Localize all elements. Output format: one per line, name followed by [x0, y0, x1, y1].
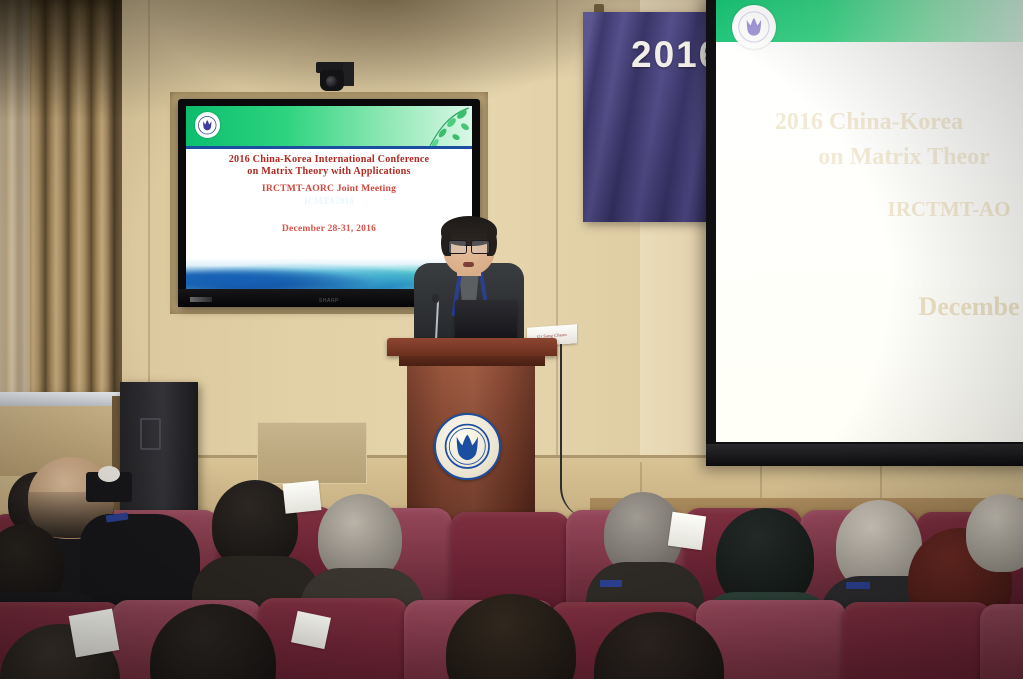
magnolia-u-icon — [738, 11, 770, 43]
slide-divider-rule — [186, 146, 472, 149]
program-booklet — [283, 480, 322, 514]
projected-line-4: Decembe — [906, 292, 1023, 322]
slide-line-1: 2016 China-Korea International Conferenc… — [186, 154, 472, 166]
display-brand-label: SHARP — [319, 298, 339, 304]
podium-neck — [399, 356, 545, 366]
audience-area — [0, 452, 1023, 679]
conference-photo-scene: 2016 China-Korea International Conferenc… — [0, 0, 1023, 679]
hanging-banner: 2016 — [583, 12, 707, 222]
lens-right — [471, 240, 490, 254]
projected-slide: 2016 China-Korea on Matrix Theor IRCTMT-… — [716, 0, 1023, 442]
seat — [980, 604, 1023, 679]
program-booklet — [668, 512, 706, 550]
seat — [258, 598, 408, 679]
program-booklet — [291, 611, 331, 649]
slide-date-line: December 28-31, 2016 — [186, 223, 472, 235]
magnolia-u-icon — [198, 116, 217, 135]
speaker-handle-icon — [140, 418, 161, 450]
lens-left — [448, 240, 467, 254]
shanghai-university-logo — [195, 112, 221, 138]
projected-university-logo — [732, 5, 776, 49]
projected-line-1: 2016 China-Korea — [716, 109, 1023, 136]
curtain-top-shadow — [0, 0, 122, 120]
projection-screen-surface: 2016 China-Korea on Matrix Theor IRCTMT-… — [716, 0, 1023, 442]
slide-title-block: 2016 China-Korea International Conferenc… — [186, 154, 472, 260]
microphone-icon — [432, 294, 439, 303]
name-badge-lanyard — [600, 580, 622, 587]
seat — [842, 602, 992, 679]
projected-title-block: 2016 China-Korea on Matrix Theor IRCTMT-… — [716, 109, 1023, 353]
slide-line-4: ICMTA2016 — [186, 196, 472, 207]
wall-camera-arm — [343, 62, 354, 86]
camera-icon — [326, 76, 337, 87]
slide-line-3: IRCTMT-AORC Joint Meeting — [186, 183, 472, 195]
display-screen: 2016 China-Korea International Conferenc… — [186, 106, 472, 289]
eyeglasses-icon — [448, 240, 490, 252]
presentation-slide: 2016 China-Korea International Conferenc… — [186, 106, 472, 289]
name-badge-lanyard — [846, 582, 870, 589]
attendee-head-grey — [966, 494, 1023, 572]
podium-top-surface — [387, 338, 557, 356]
projection-screen-frame: 2016 China-Korea on Matrix Theor IRCTMT-… — [706, 0, 1023, 466]
display-status-led — [190, 297, 212, 302]
camera-lens-icon — [98, 466, 120, 482]
presenter-mouth — [463, 262, 474, 267]
projected-line-2: on Matrix Theor — [776, 144, 1023, 171]
slide-line-2: on Matrix Theory with Applications — [186, 166, 472, 178]
presentation-laptop — [455, 300, 517, 340]
projected-line-3: IRCTMT-AO — [866, 197, 1023, 222]
program-booklet — [69, 608, 120, 657]
